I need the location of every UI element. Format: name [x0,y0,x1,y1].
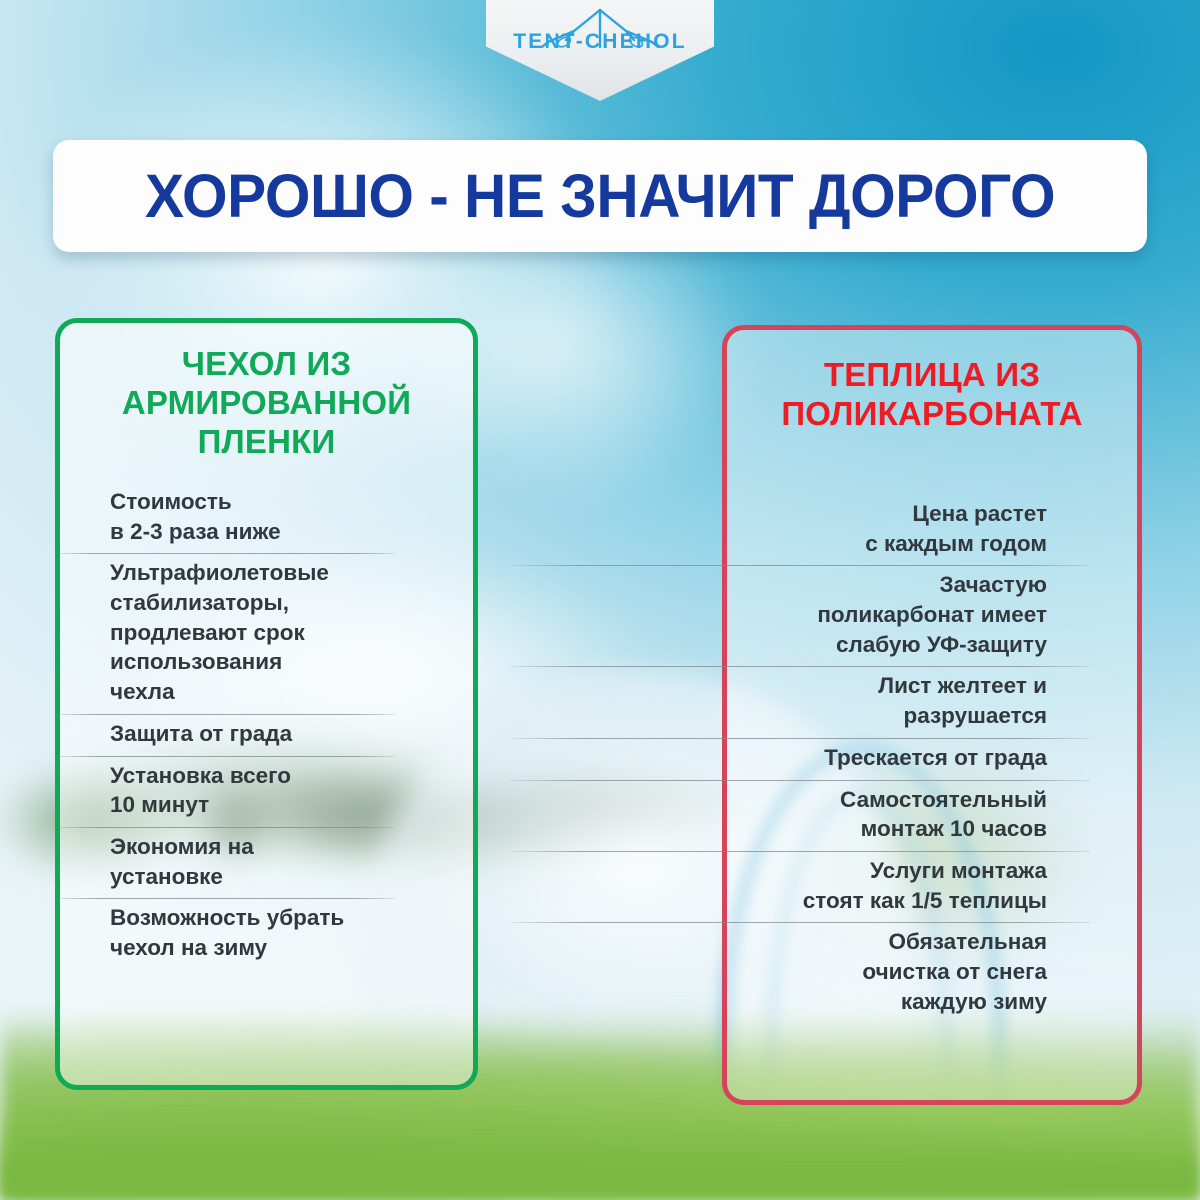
card-title-left: ЧЕХОЛ ИЗ АРМИРОВАННОЙ ПЛЕНКИ [60,345,473,462]
list-item-text: Стоимость в 2-3 раза ниже [55,487,395,546]
list-item: Цена растет с каждым годом [510,495,1090,566]
list-item: Защита от града [55,715,395,757]
list-item: Возможность убрать чехол на зиму [55,899,395,970]
list-item-text: Возможность убрать чехол на зиму [55,903,395,962]
list-item-text: Ультрафиолетовые стабилизаторы, продлева… [55,558,395,706]
list-item: Услуги монтажа стоят как 1/5 теплицы [510,852,1090,923]
page-title: ХОРОШО - НЕ ЗНАЧИТ ДОРОГО [145,161,1055,231]
list-item: Обязательная очистка от снега каждую зим… [510,923,1090,1024]
list-item: Самостоятельный монтаж 10 часов [510,781,1090,852]
list-item-text: Трескается от града [510,743,1090,773]
list-item: Установка всего 10 минут [55,757,395,828]
list-item-text: Обязательная очистка от снега каждую зим… [510,927,1090,1016]
list-item: Экономия на установке [55,828,395,899]
logo-text: TENT-CHEHOL [486,30,714,54]
benefit-list-left: Стоимость в 2-3 раза ниже Ультрафиолетов… [55,483,395,971]
card-title-right: ТЕПЛИЦА ИЗ ПОЛИКАРБОНАТА [727,356,1137,434]
list-item-text: Установка всего 10 минут [55,761,395,820]
grass-layer [0,1104,1200,1200]
list-item-text: Лист желтеет и разрушается [510,671,1090,730]
list-item-text: Экономия на установке [55,832,395,891]
list-item: Зачастую поликарбонат имеет слабую УФ-за… [510,566,1090,667]
list-item-text: Самостоятельный монтаж 10 часов [510,785,1090,844]
list-item: Стоимость в 2-3 раза ниже [55,483,395,554]
list-item-text: Зачастую поликарбонат имеет слабую УФ-за… [510,570,1090,659]
list-item-text: Защита от града [55,719,395,749]
drawback-list-right: Цена растет с каждым годом Зачастую поли… [510,495,1090,1024]
list-item: Трескается от града [510,739,1090,781]
infographic-canvas: TENT-CHEHOL ХОРОШО - НЕ ЗНАЧИТ ДОРОГО ЧЕ… [0,0,1200,1200]
list-item: Ультрафиолетовые стабилизаторы, продлева… [55,554,395,714]
list-item: Лист желтеет и разрушается [510,667,1090,738]
list-item-text: Цена растет с каждым годом [510,499,1090,558]
list-item-text: Услуги монтажа стоят как 1/5 теплицы [510,856,1090,915]
headline-banner: ХОРОШО - НЕ ЗНАЧИТ ДОРОГО [53,140,1147,252]
